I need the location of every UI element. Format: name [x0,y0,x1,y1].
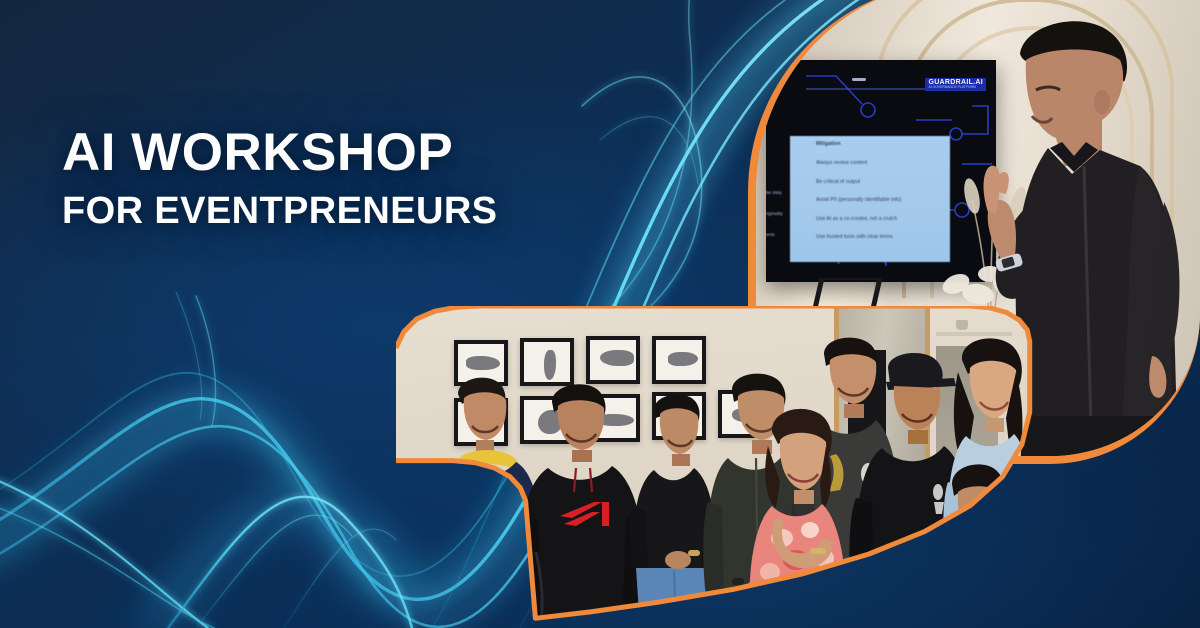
workshop-banner: AI WORKSHOP FOR EVENTPRENEURS [0,0,1200,628]
slide-bullet: Use trusted tools with clear terms [816,235,942,240]
slide-bullet: Always review content [816,161,942,166]
slide-bullet: Avoid PII (personally identifiable info) [816,198,942,203]
slide-content-panel: Mitigation Always review content Be crit… [790,136,950,262]
slide-left-label: ents [766,232,792,237]
page-title: AI WORKSHOP FOR EVENTPRENEURS [62,126,497,232]
slide-left-labels: be risky riginality ents [766,190,792,253]
slide-bullet: Use AI as a co-creator, not a crutch [816,217,942,222]
headline-line-1: AI WORKSHOP [62,126,497,180]
slide-left-label: be risky [766,190,792,195]
slide-left-label: riginality [766,211,792,216]
slide-bullet: Be critical of output [816,180,942,185]
slide-heading: Mitigation [816,142,942,147]
headline-line-2: FOR EVENTPRENEURS [62,192,497,232]
